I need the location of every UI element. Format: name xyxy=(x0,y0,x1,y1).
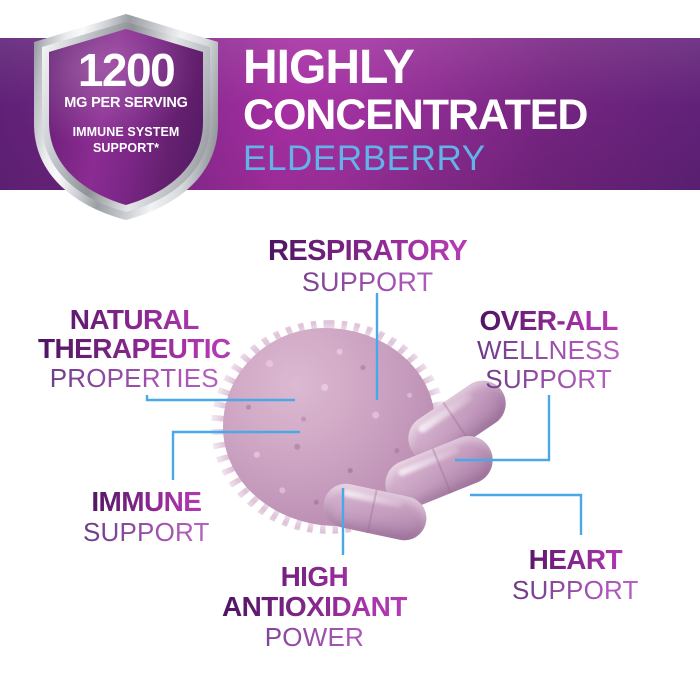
headline-block: HIGHLY CONCENTRATED ELDERBERRY xyxy=(243,44,693,179)
callout-antioxidant-bold-line-2: ANTIOXIDANT xyxy=(222,592,407,622)
callout-antioxidant-bold-line-1: HIGH xyxy=(222,562,407,592)
badge-dosage-number: 1200 xyxy=(78,48,174,92)
callout-overall-light-line-2: SUPPORT xyxy=(477,365,620,394)
callout-heart-light: SUPPORT xyxy=(512,575,639,605)
callout-immune-light: SUPPORT xyxy=(83,517,210,547)
callout-overall-light-line-1: WELLNESS xyxy=(477,336,620,365)
shield-text-block: 1200 MG PER SERVING IMMUNE SYSTEM SUPPOR… xyxy=(47,28,205,206)
headline-line-2: CONCENTRATED xyxy=(243,91,693,139)
callout-natural-light: PROPERTIES xyxy=(38,363,231,393)
callout-respiratory-light: SUPPORT xyxy=(268,267,467,297)
dosage-shield-badge: 1200 MG PER SERVING IMMUNE SYSTEM SUPPOR… xyxy=(32,12,220,222)
headline-line-3-elderberry: ELDERBERRY xyxy=(243,139,693,179)
badge-dosage-unit: MG PER SERVING xyxy=(64,95,187,111)
callout-antioxidant-light: POWER xyxy=(222,622,407,652)
callout-overall-bold: OVER-ALL xyxy=(477,306,620,336)
headline-line-1: HIGHLY xyxy=(243,44,693,91)
callout-natural-bold-line-1: NATURAL xyxy=(38,305,231,334)
callout-natural-bold-line-2: THERAPEUTIC xyxy=(38,334,231,363)
callout-natural-therapeutic: NATURAL THERAPEUTIC PROPERTIES xyxy=(38,305,231,393)
callout-respiratory: RESPIRATORY SUPPORT xyxy=(268,236,467,297)
callout-heart-support: HEART SUPPORT xyxy=(512,545,639,605)
callout-immune-bold: IMMUNE xyxy=(83,487,210,517)
callout-heart-bold: HEART xyxy=(512,545,639,575)
badge-claim-line-2: SUPPORT* xyxy=(93,141,159,156)
callout-high-antioxidant: HIGH ANTIOXIDANT POWER xyxy=(222,562,407,652)
callout-overall-wellness: OVER-ALL WELLNESS SUPPORT xyxy=(477,306,620,394)
product-infographic: 1200 MG PER SERVING IMMUNE SYSTEM SUPPOR… xyxy=(0,0,700,700)
badge-claim-line-1: IMMUNE SYSTEM xyxy=(73,125,180,140)
callout-respiratory-bold: RESPIRATORY xyxy=(268,236,467,267)
product-imagery xyxy=(205,320,505,590)
callout-immune-support: IMMUNE SUPPORT xyxy=(83,487,210,547)
